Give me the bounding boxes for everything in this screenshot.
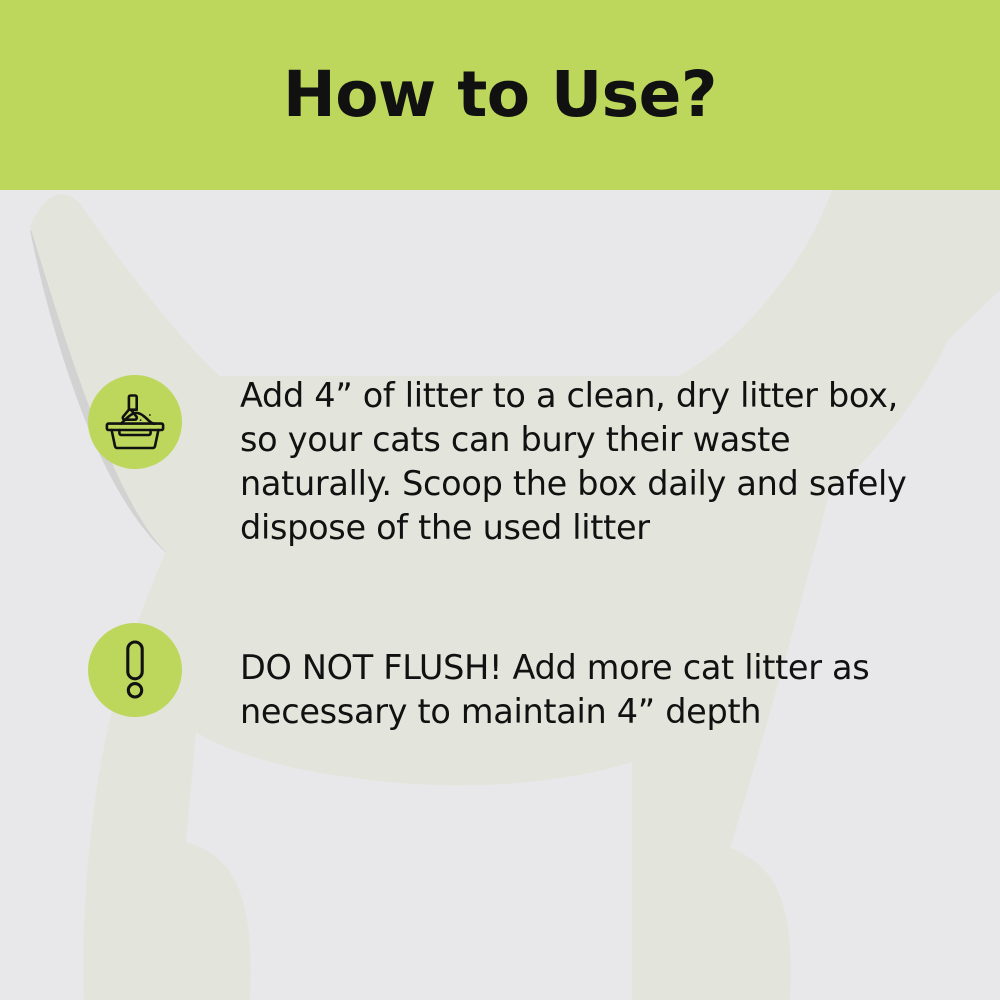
exclamation-icon-badge xyxy=(88,623,182,717)
step-item-2: DO NOT FLUSH! Add more cat litter as nec… xyxy=(88,623,928,734)
litter-box-icon xyxy=(103,392,167,452)
how-to-use-panel: How to Use? xyxy=(0,0,1000,1000)
exclamation-icon xyxy=(115,639,155,701)
step-1-text: Add 4” of litter to a clean, dry litter … xyxy=(240,369,928,550)
litter-box-icon-badge xyxy=(88,375,182,469)
steps-list: Add 4” of litter to a clean, dry litter … xyxy=(0,190,1000,1000)
step-2-text: DO NOT FLUSH! Add more cat litter as nec… xyxy=(240,641,928,734)
header-band: How to Use? xyxy=(0,0,1000,190)
page-title: How to Use? xyxy=(0,0,1000,190)
step-item-1: Add 4” of litter to a clean, dry litter … xyxy=(88,375,928,550)
